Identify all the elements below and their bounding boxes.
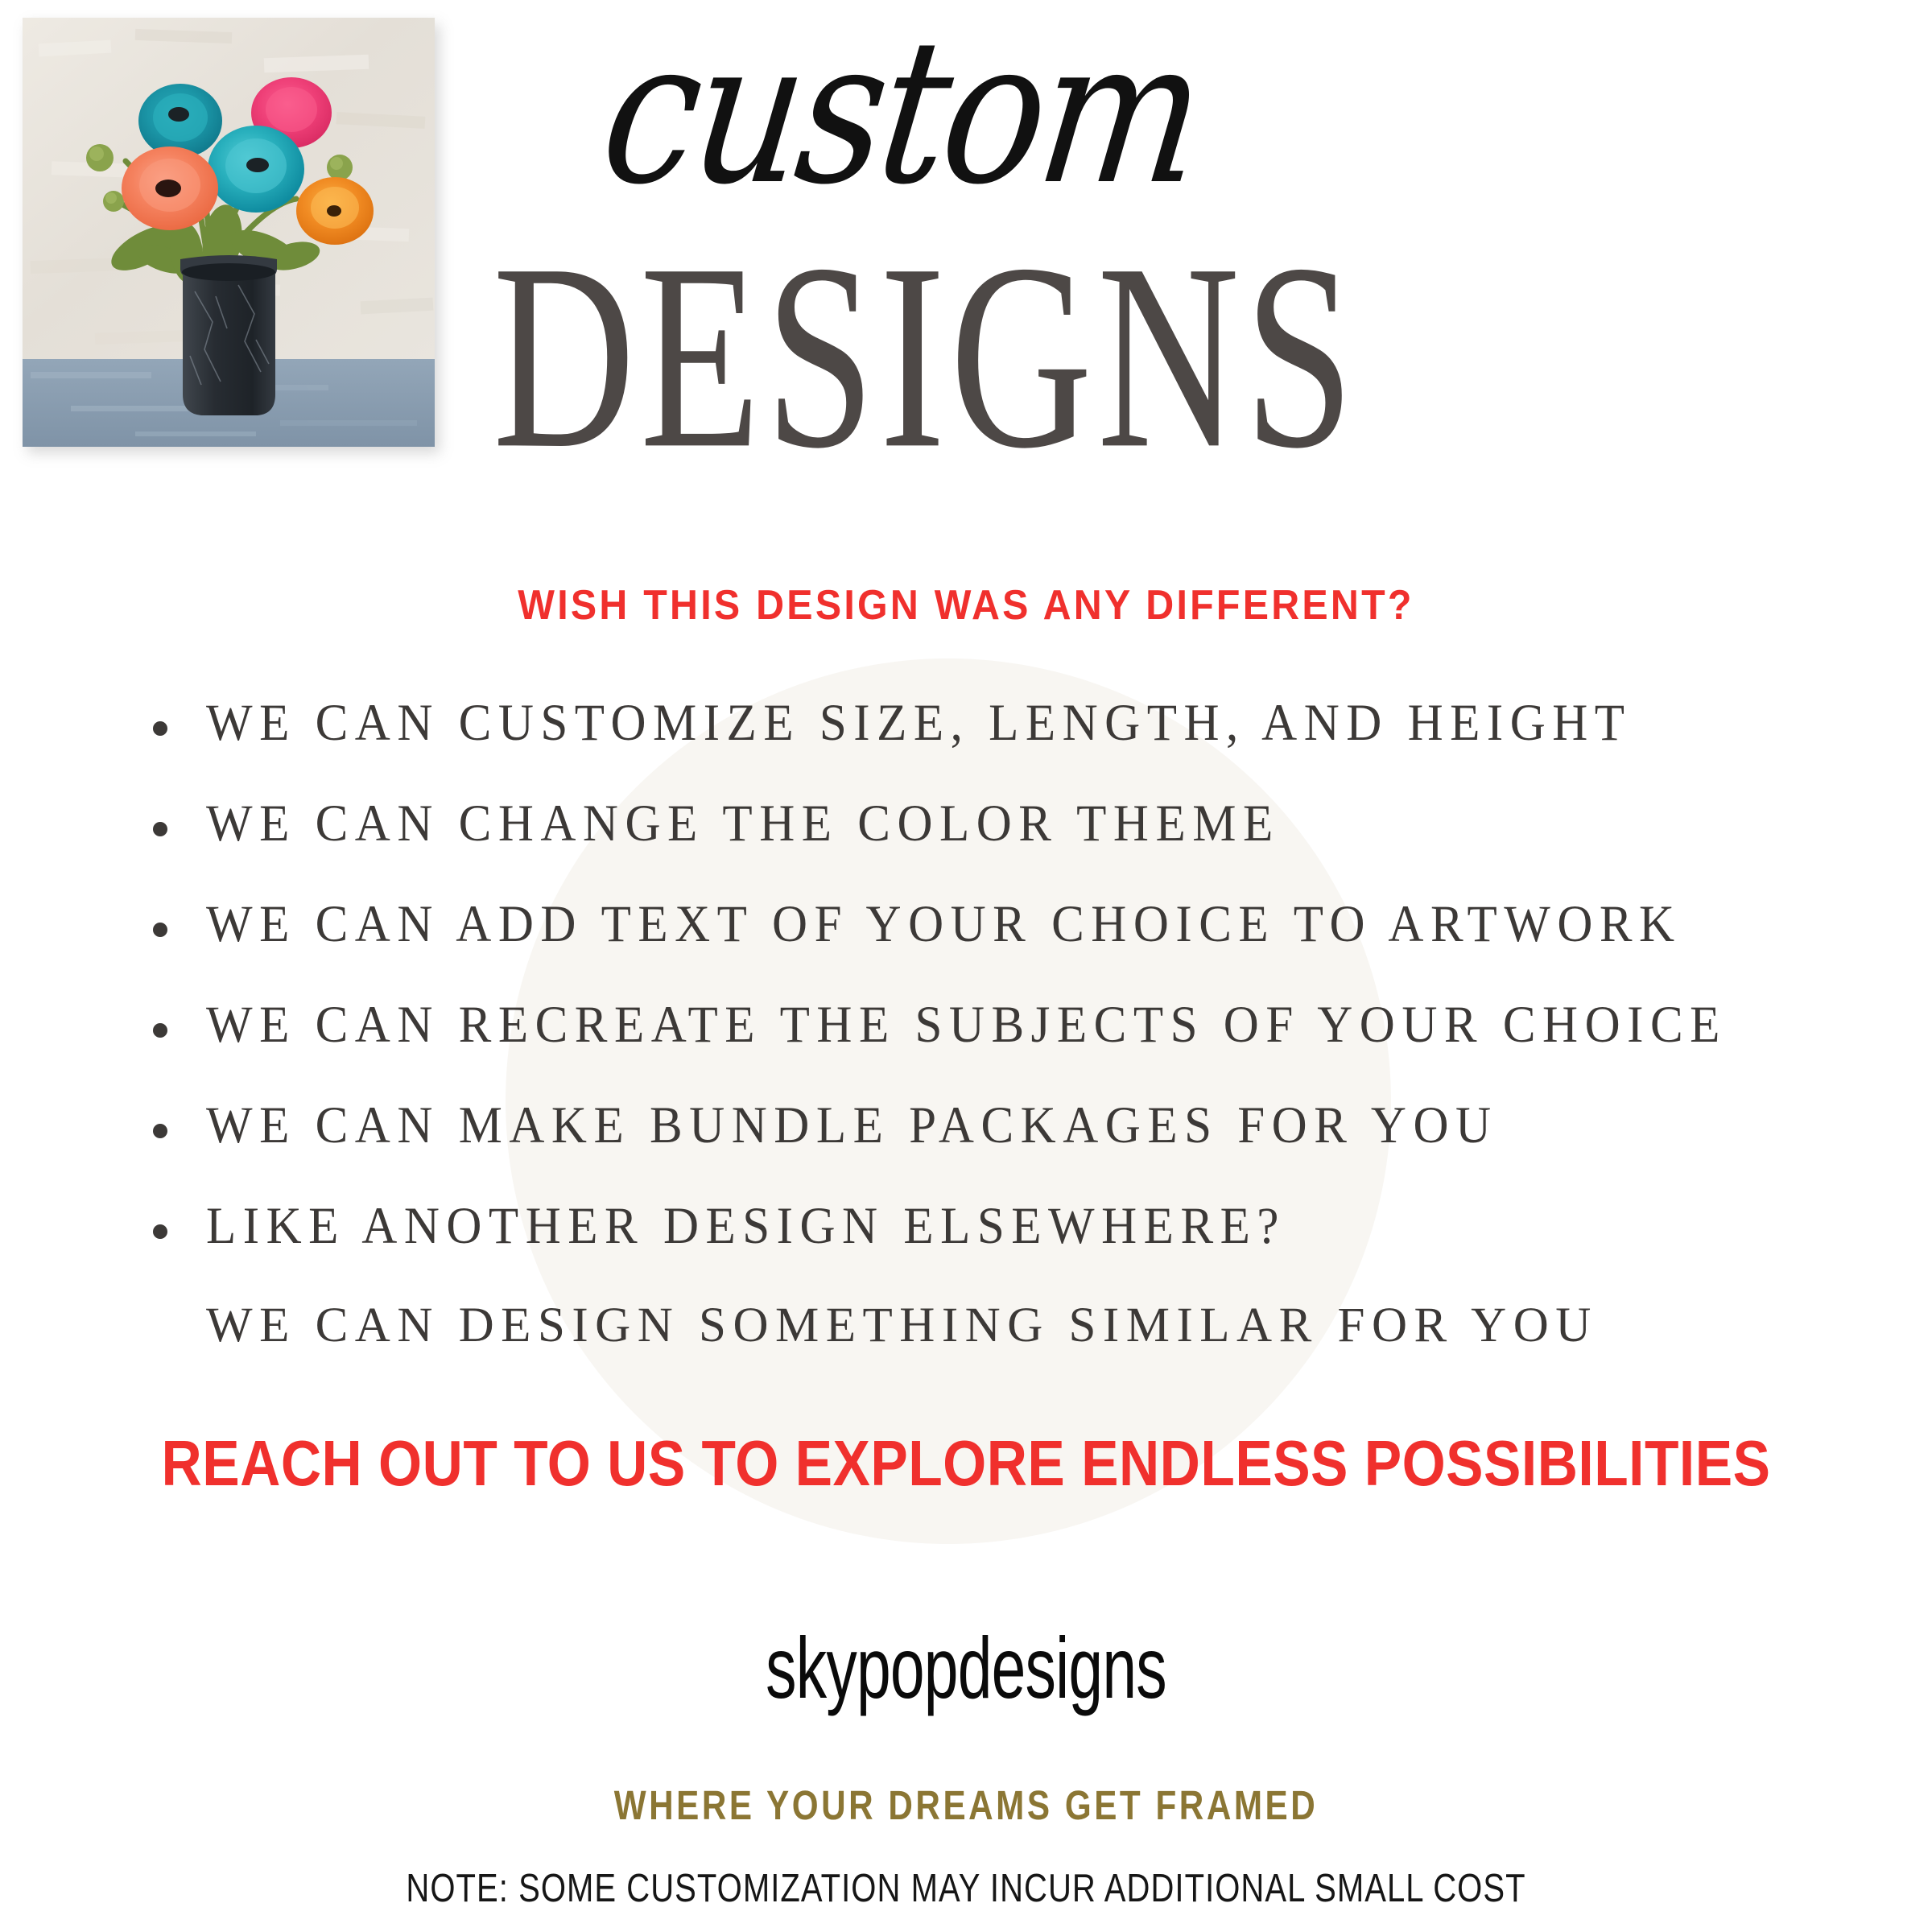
list-item-label: WE CAN ADD TEXT OF YOUR CHOICE TO ARTWOR… [206, 898, 1682, 951]
list-item-label: LIKE ANOTHER DESIGN ELSEWHERE? [206, 1200, 1286, 1253]
custom-designs-poster: custom DESIGNS WISH THIS DESIGN WAS ANY … [0, 0, 1932, 1932]
artwork-thumbnail[interactable] [23, 18, 435, 447]
list-item-subline: WE CAN DESIGN SOMETHING SIMILAR FOR YOU [206, 1298, 1598, 1352]
list-item: WE CAN ADD TEXT OF YOUR CHOICE TO ARTWOR… [153, 898, 1827, 999]
customization-options-list: WE CAN CUSTOMIZE SIZE, LENGTH, AND HEIGH… [153, 697, 1827, 1350]
floral-still-life-icon [23, 18, 435, 447]
list-item: WE CAN MAKE BUNDLE PACKAGES FOR YOU [153, 1100, 1827, 1200]
brand-logo-text: skypopdesigns [193, 1619, 1739, 1718]
list-item: WE CAN CHANGE THE COLOR THEME [153, 798, 1827, 898]
title-serif-designs: DESIGNS [460, 235, 1391, 480]
bullet-dot-icon [153, 822, 167, 836]
title-script-custom: custom [440, 18, 1356, 207]
bullet-dot-icon [153, 1224, 167, 1239]
brand-tagline: WHERE YOUR DREAMS GET FRAMED [116, 1782, 1816, 1829]
call-to-action-text: REACH OUT TO US TO EXPLORE ENDLESS POSSI… [58, 1426, 1874, 1501]
bullet-dot-icon [153, 721, 167, 736]
bullet-dot-icon [153, 1023, 167, 1038]
header-wordmark: custom DESIGNS [451, 32, 1916, 420]
list-item: LIKE ANOTHER DESIGN ELSEWHERE? [153, 1200, 1827, 1301]
bullet-dot-icon [153, 923, 167, 937]
list-item-label: WE CAN MAKE BUNDLE PACKAGES FOR YOU [206, 1100, 1498, 1152]
list-item: WE CAN RECREATE THE SUBJECTS OF YOUR CHO… [153, 999, 1827, 1100]
footer-note: NOTE: SOME CUSTOMIZATION MAY INCUR ADDIT… [126, 1864, 1806, 1910]
list-item-label: WE CAN RECREATE THE SUBJECTS OF YOUR CHO… [206, 999, 1727, 1051]
subtitle-question: WISH THIS DESIGN WAS ANY DIFFERENT? [68, 581, 1864, 630]
list-item-label: WE CAN CUSTOMIZE SIZE, LENGTH, AND HEIGH… [206, 697, 1632, 749]
list-item: WE CAN CUSTOMIZE SIZE, LENGTH, AND HEIGH… [153, 697, 1827, 798]
bullet-dot-icon [153, 1124, 167, 1138]
list-item-label: WE CAN CHANGE THE COLOR THEME [206, 798, 1280, 850]
list-item-continuation: WE CAN DESIGN SOMETHING SIMILAR FOR YOU [153, 1301, 1827, 1350]
